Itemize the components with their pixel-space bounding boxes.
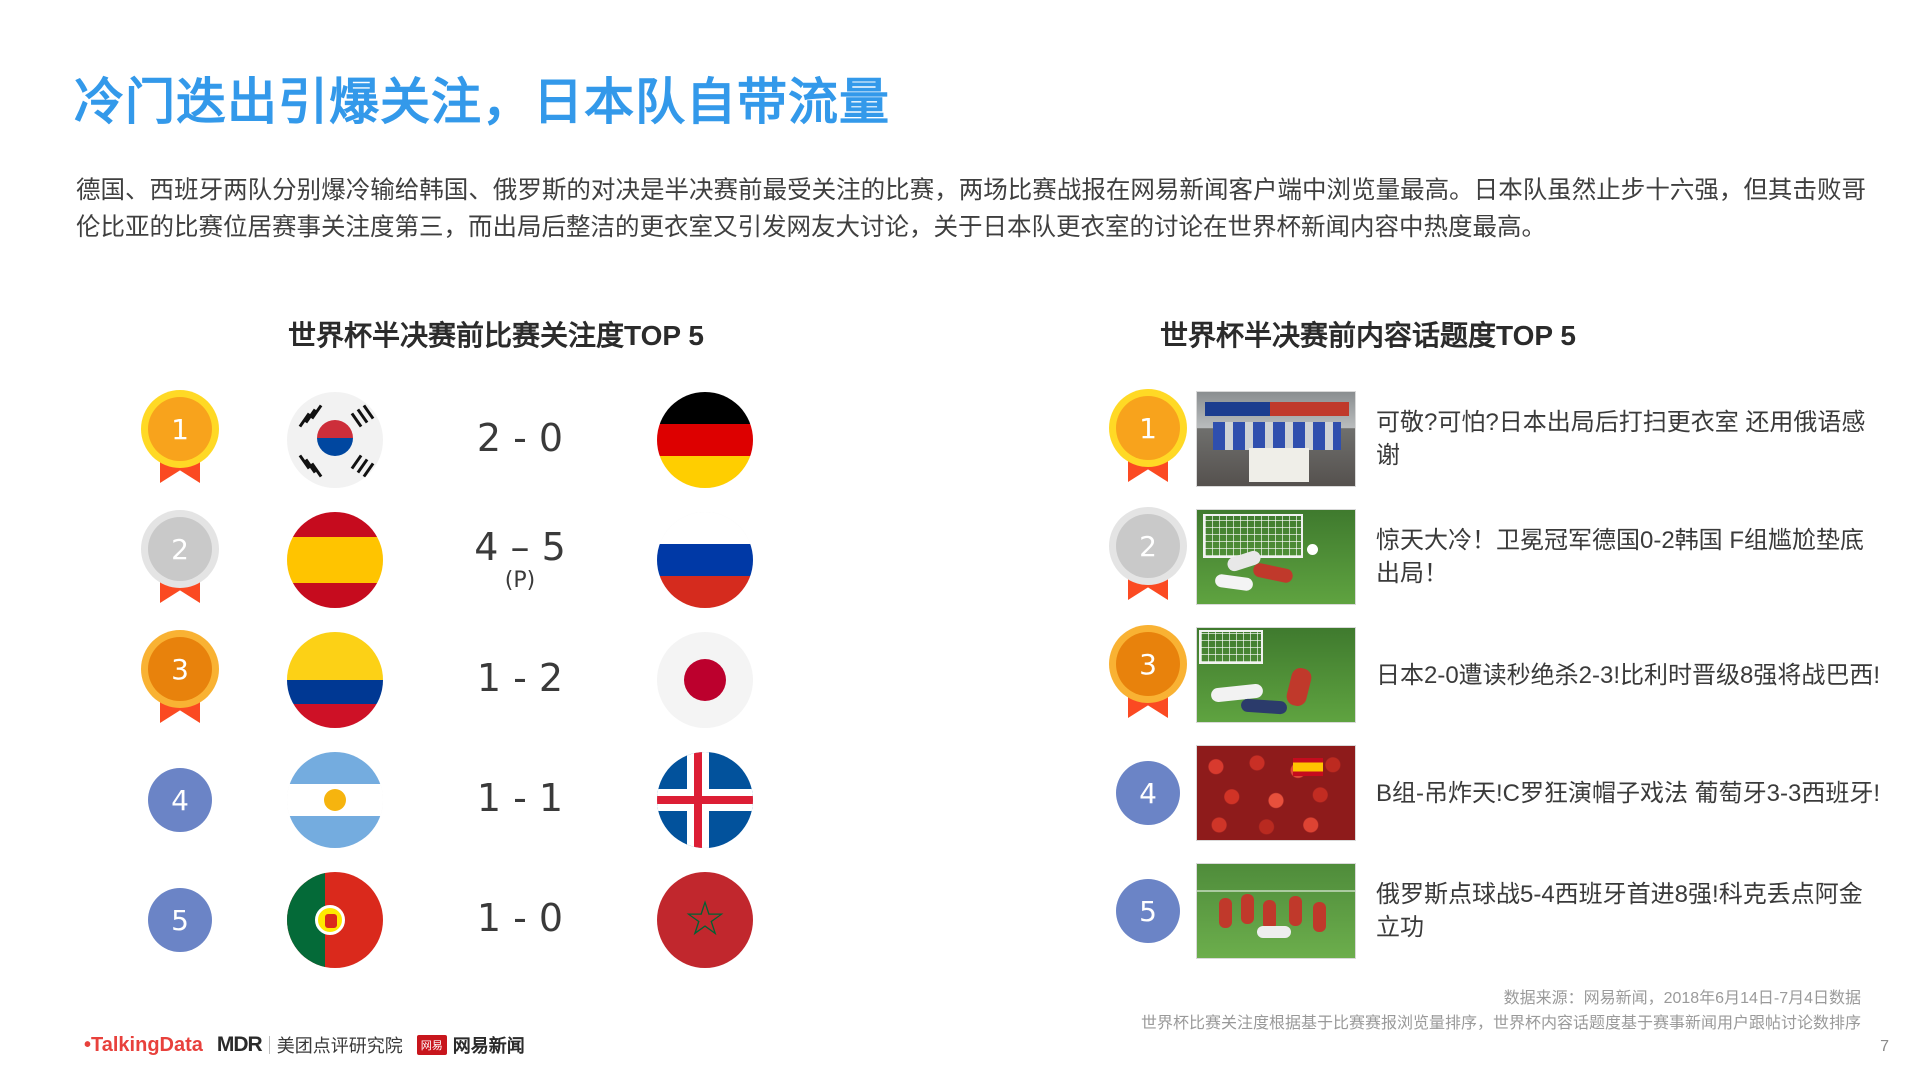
score-value: 1 - 2	[477, 656, 563, 700]
score-value: 1 - 0	[477, 896, 563, 940]
news-thumbnail-locker-room	[1196, 391, 1356, 487]
home-flag-cell	[240, 632, 430, 728]
list-item[interactable]: 4 B组-吊炸天!C罗狂演帽子戏法 葡萄牙3-3西班牙!	[1100, 734, 1890, 852]
score-value: 2 - 0	[477, 416, 563, 460]
rank-number: 1	[1116, 396, 1180, 460]
away-flag-cell	[610, 512, 800, 608]
flag-icon-germany	[657, 392, 753, 488]
rank-cell: 5	[1100, 879, 1196, 943]
flag-icon-spain	[287, 512, 383, 608]
match-score: 1 - 2	[430, 659, 610, 701]
rank-cell: 2	[1100, 514, 1196, 600]
rank-cell: 2	[120, 517, 240, 603]
list-item[interactable]: 2 惊天大冷！卫冕冠军德国0-2韩国 F组尴尬垫底出局！	[1100, 498, 1890, 616]
flag-icon-morocco: ☆	[657, 872, 753, 968]
logo-talkingdata-text: TalkingData	[91, 1034, 203, 1056]
away-flag-cell	[610, 392, 800, 488]
right-section-heading: 世界杯半决赛前内容话题度TOP 5	[1160, 314, 1576, 354]
home-flag-cell	[240, 512, 430, 608]
home-flag-cell	[240, 872, 430, 968]
away-flag-cell: ☆	[610, 872, 800, 968]
logo-mdr-text: 美团点评研究院	[277, 1032, 403, 1058]
slide-root: 冷门迭出引爆关注，日本队自带流量 德国、西班牙两队分别爆冷输给韩国、俄罗斯的对决…	[0, 0, 1921, 1080]
news-thumbnail-japan-belgium	[1196, 627, 1356, 723]
news-headline: B组-吊炸天!C罗狂演帽子戏法 葡萄牙3-3西班牙!	[1376, 777, 1890, 810]
logo-divider	[269, 1036, 270, 1054]
rank-badge-5: 5	[148, 888, 212, 952]
table-row: 4 1 - 1	[120, 740, 880, 860]
logo-meituan-dianping-research: MDR 美团点评研究院	[217, 1032, 403, 1058]
home-flag-cell	[240, 392, 430, 488]
match-attention-list: 1	[120, 380, 880, 980]
logo-talkingdata: •TalkingData	[84, 1034, 203, 1057]
rank-badge-5: 5	[1116, 879, 1180, 943]
list-item[interactable]: 5 俄罗斯点球战5-4西班牙首进8强!科克丢点阿金立功	[1100, 852, 1890, 970]
flag-icon-japan	[657, 632, 753, 728]
table-row: 2 4 – 5 (P)	[120, 500, 880, 620]
list-item[interactable]: 1 可敬?可怕?日本出局后打扫更衣室 还用俄语感谢	[1100, 380, 1890, 498]
logo-mdr-mark: MDR	[217, 1033, 262, 1057]
rank-number: 2	[148, 517, 212, 581]
rank-cell: 5	[120, 888, 240, 952]
rank-cell: 3	[1100, 632, 1196, 718]
flag-icon-argentina	[287, 752, 383, 848]
match-score: 1 - 1	[430, 779, 610, 821]
flag-icon-south-korea	[287, 392, 383, 488]
rank-cell: 1	[120, 397, 240, 483]
logo-163-text: 网易新闻	[453, 1032, 525, 1058]
source-line-2: 世界杯比赛关注度根据基于比赛赛报浏览量排序，世界杯内容话题度基于赛事新闻用户跟帖…	[1141, 1011, 1861, 1036]
rank-cell: 1	[1100, 396, 1196, 482]
rank-badge-4: 4	[148, 768, 212, 832]
match-score: 4 – 5 (P)	[430, 528, 610, 593]
rank-number: 4	[1116, 761, 1180, 825]
medal-icon-gold: 1	[148, 397, 212, 483]
flag-icon-iceland	[657, 752, 753, 848]
medal-icon-silver: 2	[1116, 514, 1180, 600]
news-thumbnail-goal-save	[1196, 509, 1356, 605]
score-value: 4 – 5	[474, 525, 566, 569]
news-headline: 惊天大冷！卫冕冠军德国0-2韩国 F组尴尬垫底出局！	[1376, 524, 1890, 590]
match-score: 2 - 0	[430, 419, 610, 461]
intro-paragraph: 德国、西班牙两队分别爆冷输给韩国、俄罗斯的对决是半决赛前最受关注的比赛，两场比赛…	[76, 172, 1866, 246]
away-flag-cell	[610, 752, 800, 848]
medal-icon-bronze: 3	[148, 637, 212, 723]
rank-cell: 4	[120, 768, 240, 832]
news-topic-list: 1 可敬?可怕?日本出局后打扫更衣室 还用俄语感谢 2 惊天大冷！卫冕冠军	[1100, 380, 1890, 970]
list-item[interactable]: 3 日本2-0遭读秒绝杀2-3!比利时晋级8强将战巴西!	[1100, 616, 1890, 734]
flag-icon-colombia	[287, 632, 383, 728]
rank-number: 5	[148, 888, 212, 952]
medal-icon-silver: 2	[148, 517, 212, 603]
page-title: 冷门迭出引爆关注，日本队自带流量	[74, 62, 890, 134]
news-headline: 俄罗斯点球战5-4西班牙首进8强!科克丢点阿金立功	[1376, 878, 1890, 944]
table-row: 3 1 - 2	[120, 620, 880, 740]
score-value: 1 - 1	[477, 776, 563, 820]
news-thumbnail-spain-crowd	[1196, 745, 1356, 841]
away-flag-cell	[610, 632, 800, 728]
rank-number: 3	[148, 637, 212, 701]
logo-163-mark: 网易	[417, 1035, 447, 1055]
score-note: (P)	[430, 569, 610, 592]
flag-icon-portugal	[287, 872, 383, 968]
home-flag-cell	[240, 752, 430, 848]
page-number: 7	[1880, 1038, 1889, 1056]
rank-cell: 3	[120, 637, 240, 723]
logo-netease-news: 网易 网易新闻	[417, 1032, 525, 1058]
footer-logos: •TalkingData MDR 美团点评研究院 网易 网易新闻	[84, 1032, 525, 1058]
match-score: 1 - 0	[430, 899, 610, 941]
news-headline: 日本2-0遭读秒绝杀2-3!比利时晋级8强将战巴西!	[1376, 659, 1890, 692]
source-line-1: 数据来源：网易新闻，2018年6月14日-7月4日数据	[1141, 986, 1861, 1011]
rank-cell: 4	[1100, 761, 1196, 825]
table-row: 1	[120, 380, 880, 500]
rank-number: 1	[148, 397, 212, 461]
flag-icon-russia	[657, 512, 753, 608]
rank-number: 5	[1116, 879, 1180, 943]
source-note: 数据来源：网易新闻，2018年6月14日-7月4日数据 世界杯比赛关注度根据基于…	[1141, 986, 1861, 1036]
news-headline: 可敬?可怕?日本出局后打扫更衣室 还用俄语感谢	[1376, 406, 1890, 472]
rank-number: 4	[148, 768, 212, 832]
table-row: 5 1 - 0 ☆	[120, 860, 880, 980]
medal-icon-gold: 1	[1116, 396, 1180, 482]
rank-number: 2	[1116, 514, 1180, 578]
medal-icon-bronze: 3	[1116, 632, 1180, 718]
left-section-heading: 世界杯半决赛前比赛关注度TOP 5	[288, 314, 704, 354]
news-thumbnail-penalty-celebration	[1196, 863, 1356, 959]
rank-badge-4: 4	[1116, 761, 1180, 825]
rank-number: 3	[1116, 632, 1180, 696]
